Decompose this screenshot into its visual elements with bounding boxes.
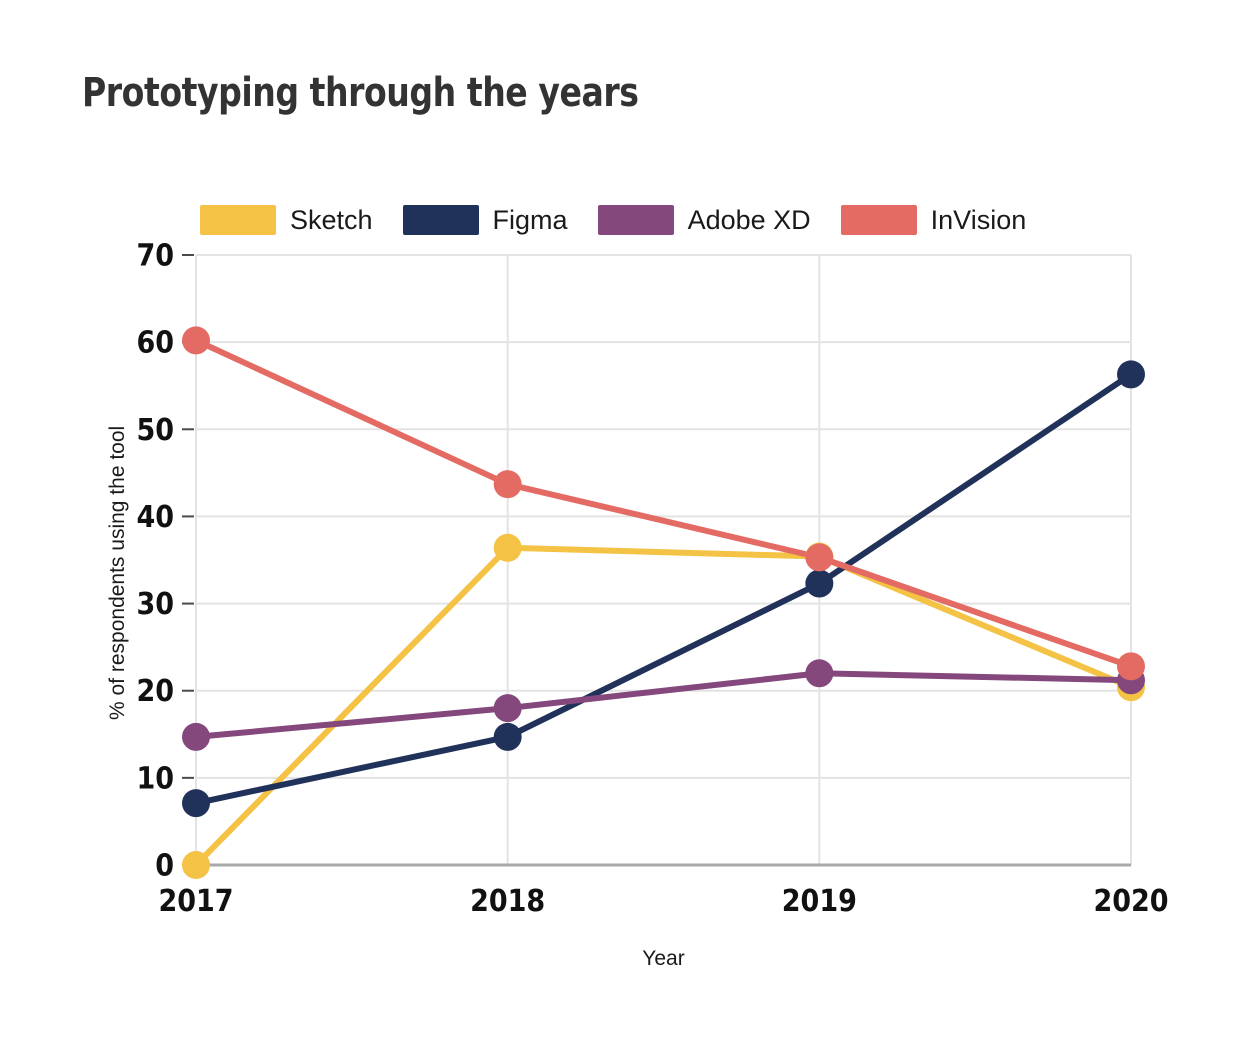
series-line-sketch — [196, 548, 1131, 865]
x-tick-label: 2019 — [782, 884, 857, 919]
data-point-figma-2020[interactable] — [1117, 360, 1145, 388]
data-point-figma-2018[interactable] — [494, 723, 522, 751]
y-tick-label: 20 — [136, 674, 174, 709]
x-tick-label: 2018 — [470, 884, 545, 919]
data-point-sketch-2017[interactable] — [182, 851, 210, 879]
data-point-adobe-xd-2019[interactable] — [805, 659, 833, 687]
data-point-invision-2017[interactable] — [182, 326, 210, 354]
series-line-invision — [196, 340, 1131, 666]
y-tick-label: 70 — [136, 239, 174, 274]
chart-container: Prototyping through the years SketchFigm… — [0, 0, 1250, 1038]
data-point-figma-2019[interactable] — [805, 570, 833, 598]
data-point-invision-2020[interactable] — [1117, 652, 1145, 680]
data-point-sketch-2018[interactable] — [494, 534, 522, 562]
y-tick-label: 0 — [155, 849, 174, 884]
data-point-figma-2017[interactable] — [182, 789, 210, 817]
data-point-adobe-xd-2018[interactable] — [494, 694, 522, 722]
y-tick-label: 10 — [136, 761, 174, 796]
series-line-figma — [196, 374, 1131, 803]
y-tick-label: 30 — [136, 587, 174, 622]
x-tick-label: 2020 — [1093, 884, 1168, 919]
data-point-adobe-xd-2017[interactable] — [182, 723, 210, 751]
plot-area: 0102030405060702017201820192020 — [0, 0, 1250, 1038]
series-line-adobe-xd — [196, 673, 1131, 737]
y-tick-label: 60 — [136, 326, 174, 361]
x-tick-label: 2017 — [158, 884, 233, 919]
y-tick-label: 40 — [136, 500, 174, 535]
y-tick-label: 50 — [136, 413, 174, 448]
data-point-invision-2019[interactable] — [805, 543, 833, 571]
data-point-invision-2018[interactable] — [494, 470, 522, 498]
